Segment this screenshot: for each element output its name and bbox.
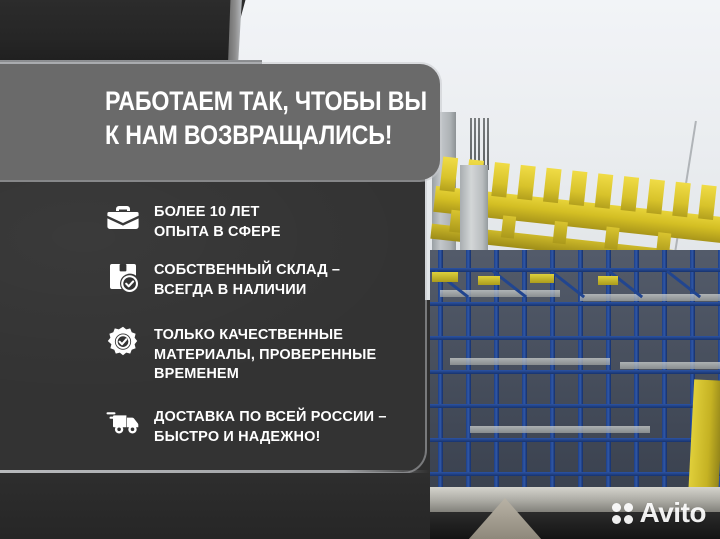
scaffold-plank xyxy=(450,358,610,365)
background-photo xyxy=(0,0,720,539)
beam-joist-lower xyxy=(553,221,568,244)
beam-joist-lower xyxy=(604,227,619,250)
beam-joist xyxy=(440,157,459,192)
scaffold-plank xyxy=(470,426,650,433)
rebar-bar xyxy=(487,118,489,170)
beam-joist xyxy=(672,182,691,217)
avito-dot xyxy=(612,515,621,524)
scaffold-rail xyxy=(430,302,720,306)
scaffold-rail xyxy=(430,336,720,340)
yellow-prop xyxy=(530,274,554,283)
beam-joist xyxy=(517,165,536,200)
scaffold-rail xyxy=(430,472,720,476)
avito-dot xyxy=(624,515,633,524)
beam-joist xyxy=(569,171,588,206)
beam-joist xyxy=(621,176,640,211)
slab-underside xyxy=(0,60,262,70)
scaffold-rail xyxy=(430,268,720,272)
beam-joist xyxy=(698,185,717,220)
avito-wordmark: Avito xyxy=(640,499,706,527)
avito-dots-logo xyxy=(612,503,633,524)
beam-joist xyxy=(543,168,562,203)
yellow-prop xyxy=(598,276,618,285)
yellow-prop xyxy=(478,276,500,285)
beam-joist xyxy=(595,173,614,208)
beam-joist xyxy=(646,179,665,214)
avito-dot xyxy=(612,503,621,512)
avito-dot xyxy=(624,503,633,512)
yellow-prop xyxy=(432,272,458,282)
scaffold-rail xyxy=(430,370,720,374)
scaffold-plank xyxy=(620,362,720,369)
dark-slab-top-left xyxy=(0,0,246,64)
scaffold-rail xyxy=(430,404,720,408)
beam-joist-lower xyxy=(501,215,516,238)
beam-joist xyxy=(491,162,510,197)
scaffold-rail xyxy=(430,438,720,442)
banner-image: РАБОТАЕМ ТАК, ЧТОБЫ ВЫ К НАМ ВОЗВРАЩАЛИС… xyxy=(0,0,720,539)
avito-watermark: Avito xyxy=(612,499,706,527)
